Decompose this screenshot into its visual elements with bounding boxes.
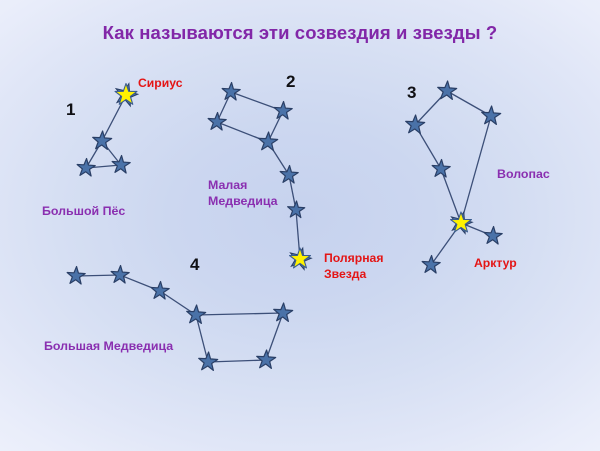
- constellation-number-1: 1: [66, 100, 75, 120]
- constellation-label-ursa-major: Большая Медведица: [44, 338, 173, 354]
- constellation-line: [266, 313, 283, 360]
- page-title: Как называются эти созвездия и звезды ?: [0, 22, 600, 44]
- constellation-line: [461, 116, 491, 223]
- star-shape: [484, 227, 502, 244]
- star-shape: [257, 350, 276, 368]
- star-shape: [222, 83, 240, 100]
- constellation-group-1: [77, 84, 138, 177]
- slide-canvas: Как называются эти созвездия и звезды ? …: [0, 0, 600, 451]
- constellation-label-canis-major: Большой Пёс: [42, 203, 125, 219]
- constellation-label-bootes: Волопас: [497, 166, 550, 182]
- star-shape: [274, 303, 293, 321]
- constellation-line: [441, 169, 461, 223]
- star-label-arcturus: Арктур: [474, 255, 517, 271]
- constellation-group-3: [406, 81, 503, 273]
- star-shape: [187, 305, 206, 323]
- star-shape: [93, 131, 112, 149]
- star-shape: [199, 352, 218, 370]
- constellation-number-3: 3: [407, 83, 416, 103]
- star-shape: [151, 282, 169, 299]
- star-shape: [111, 266, 129, 283]
- constellation-line: [196, 313, 283, 315]
- star-shape: [280, 166, 298, 183]
- star-shape: [77, 159, 95, 176]
- constellation-number-2: 2: [286, 72, 295, 92]
- star-shape: [482, 106, 501, 124]
- star-shape: [438, 81, 457, 99]
- star-label-polaris: Полярная Звезда: [324, 250, 383, 282]
- constellation-label-ursa-minor: Малая Медведица: [208, 177, 278, 209]
- constellation-group-4: [67, 266, 293, 371]
- constellation-group-2: [208, 83, 311, 270]
- star-shape: [67, 267, 85, 284]
- star-label-sirius: Сириус: [138, 75, 182, 91]
- star-shape: [259, 132, 278, 150]
- star-shape: [422, 256, 440, 273]
- star-shape: [208, 113, 226, 130]
- constellation-number-4: 4: [190, 255, 199, 275]
- star-shape: [274, 102, 292, 119]
- star-shape: [432, 160, 450, 177]
- constellation-line: [196, 315, 208, 362]
- constellation-sky-svg: [0, 0, 600, 451]
